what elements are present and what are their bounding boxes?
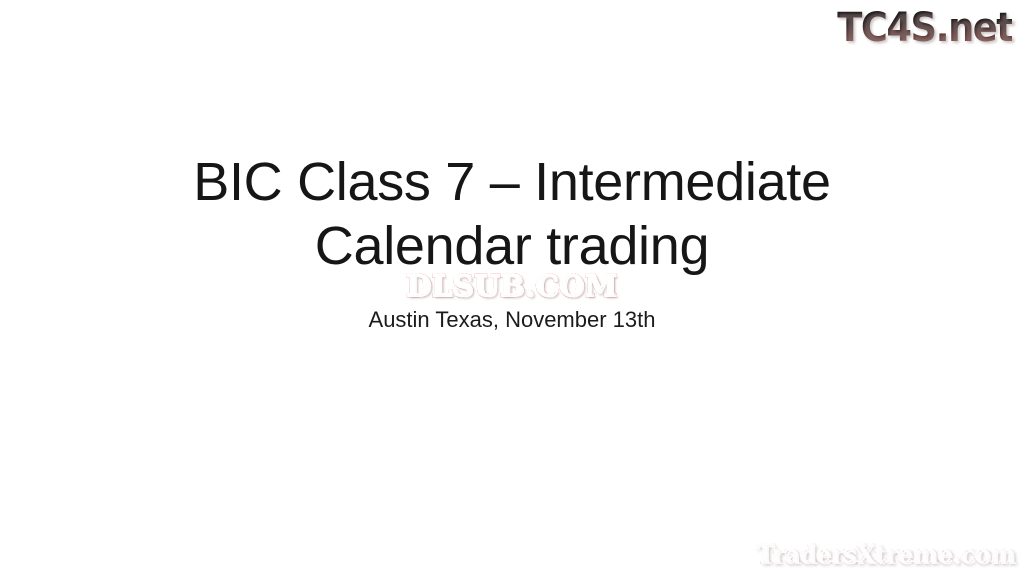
watermark-tradersxtreme-text: TradersXtreme.com [756, 540, 1015, 569]
watermark-tc4s-text: TC4S.net [837, 5, 1012, 51]
watermark-tradersxtreme: TradersXtreme.com [756, 540, 1015, 570]
slide-title-line-1: BIC Class 7 – Intermediate [0, 150, 1024, 214]
slide-subtitle: Austin Texas, November 13th [0, 306, 1024, 334]
watermark-dlsub-text: DLSUB.COM [406, 269, 617, 303]
watermark-tc4s: TC4S.net [837, 6, 1012, 50]
slide-subtitle-line-1: Austin Texas, November 13th [0, 306, 1024, 334]
watermark-dlsub: DLSUB.COM [406, 270, 617, 302]
presentation-slide: TC4S.net BIC Class 7 – Intermediate Cale… [0, 0, 1024, 576]
slide-title: BIC Class 7 – Intermediate Calendar trad… [0, 150, 1024, 278]
